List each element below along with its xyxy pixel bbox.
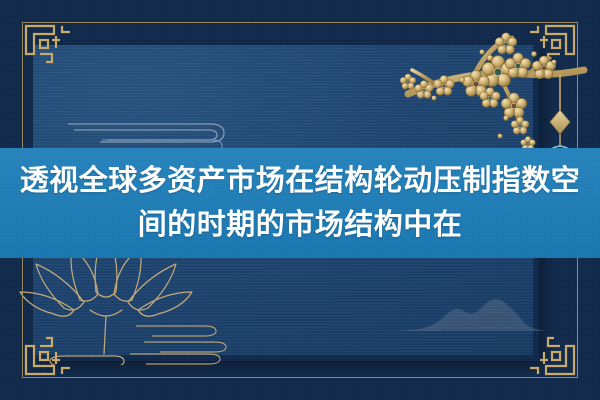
fret-corner-top-left-icon [24, 24, 78, 78]
fret-corner-bottom-left-icon [24, 322, 78, 376]
poster-title: 透视全球多资产市场在结构轮动压制指数空间的时期的市场结构中在 [11, 159, 589, 247]
title-banner: 透视全球多资产市场在结构轮动压制指数空间的时期的市场结构中在 [0, 148, 600, 258]
poster-canvas: 透视全球多资产市场在结构轮动压制指数空间的时期的市场结构中在 [0, 0, 600, 400]
fret-corner-bottom-right-icon [522, 322, 576, 376]
plum-blossom-branch-icon [378, 14, 598, 169]
